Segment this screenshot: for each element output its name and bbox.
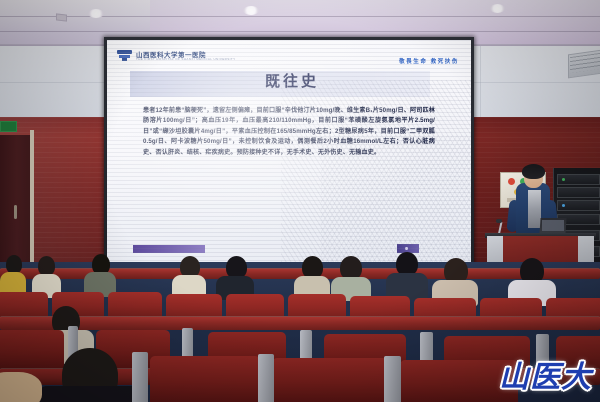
rack-unit: [557, 187, 600, 198]
exit-sign: [0, 121, 17, 132]
slide-title: 既往史: [227, 70, 357, 91]
presenter-hair: [522, 164, 545, 179]
hospital-logo-icon: [117, 50, 132, 61]
podium-microphone-head: [496, 219, 502, 223]
door-handle[interactable]: [14, 205, 17, 219]
presenter-shirt: [528, 190, 541, 228]
rack-status-led: [562, 204, 565, 207]
slide-footer-bar: [133, 245, 205, 253]
seat-support-post: [258, 354, 274, 402]
hospital-name-english-label: THE FIRST HOSPITAL OF SHANXI MEDICAL UNI…: [136, 57, 235, 61]
seat-support-post: [132, 352, 148, 402]
watermark-logo: 山医大: [499, 352, 592, 396]
slide-header: 山西医科大学第一医院 THE FIRST HOSPITAL OF SHANXI …: [115, 48, 463, 65]
slide-body-text: 患者12年前患“脑梗死”，遗留左侧偏瘫，目前口服“辛伐他汀片10mg/晚、维生素…: [143, 106, 435, 158]
auditorium-seat: [0, 330, 64, 370]
audience-member-2-head: [38, 256, 55, 276]
ceiling-downlight: [490, 4, 505, 13]
rack-status-led: [562, 178, 565, 181]
laptop-screen: [542, 220, 564, 231]
desk-row: [0, 316, 600, 330]
audience-member-13-head: [0, 372, 42, 402]
auditorium-seat-foreground: [272, 358, 388, 402]
seat-support-post: [384, 356, 401, 402]
ceiling-downlight: [88, 9, 104, 18]
ceiling-smoke-detector: [56, 13, 67, 21]
door-frame: [30, 130, 34, 277]
auditorium-seat-foreground: [150, 356, 260, 402]
indicator-led-red: [508, 178, 515, 185]
ceiling-seam: [0, 31, 600, 32]
projection-screen[interactable]: 山西医科大学第一医院 THE FIRST HOSPITAL OF SHANXI …: [107, 40, 471, 262]
lecture-hall-photo: 山西医科大学第一医院 THE FIRST HOSPITAL OF SHANXI …: [0, 0, 600, 402]
hospital-slogan-label: 敬畏生命 救死扶伤: [399, 57, 459, 65]
audience-member-12-body: [38, 386, 142, 402]
ceiling-downlight: [243, 6, 259, 15]
